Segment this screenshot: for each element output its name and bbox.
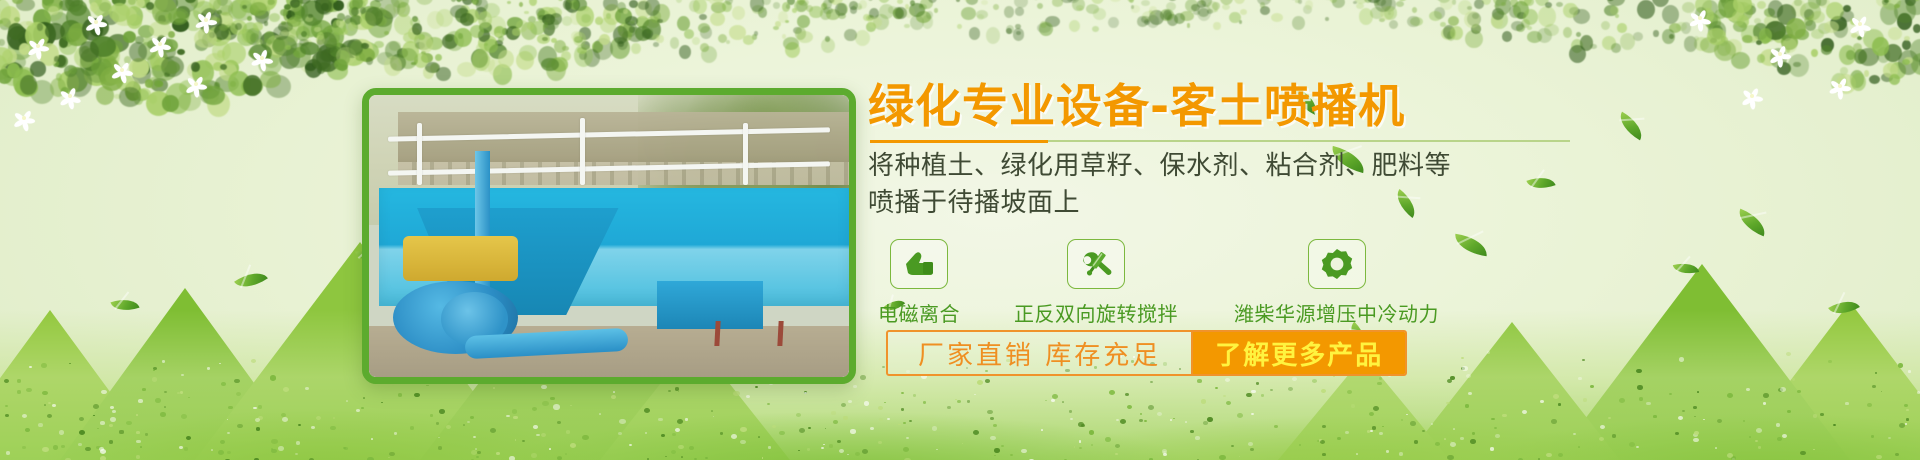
learn-more-button[interactable]: 了解更多产品 xyxy=(1191,332,1405,374)
banner-content: 绿化专业设备-客土喷播机 将种植土、绿化用草籽、保水剂、粘合剂、肥料等 喷播于待… xyxy=(868,82,1668,327)
promo-banner: 绿化专业设备-客土喷播机 将种植土、绿化用草籽、保水剂、粘合剂、肥料等 喷播于待… xyxy=(0,0,1920,460)
leaf-icon xyxy=(110,294,139,315)
feature-icon-box xyxy=(1067,239,1125,289)
gear-icon xyxy=(1321,248,1353,280)
feature-icon-box xyxy=(1308,239,1366,289)
product-photo xyxy=(362,88,856,384)
leaf-icon xyxy=(234,265,268,295)
leaf-icon xyxy=(1828,294,1860,321)
feature-list: 电磁离合 xyxy=(868,239,1668,327)
feature-icon-box xyxy=(890,239,948,289)
feature-item-bidirectional-mixing: 正反双向旋转搅拌 xyxy=(1014,239,1178,327)
thumbs-up-icon xyxy=(902,250,936,278)
leaf-icon xyxy=(1734,209,1770,237)
subtitle-line-2: 喷播于待播坡面上 xyxy=(868,185,1668,222)
title-divider xyxy=(870,140,1570,142)
feature-label: 潍柴华源增压中冷动力 xyxy=(1234,298,1439,327)
cta-bar: 厂家直销 库存充足 了解更多产品 xyxy=(886,330,1407,376)
feature-item-weichai-power: 潍柴华源增压中冷动力 xyxy=(1234,239,1439,327)
wrench-screwdriver-icon xyxy=(1079,249,1113,279)
leaf-icon xyxy=(1673,259,1699,277)
page-title: 绿化专业设备-客土喷播机 xyxy=(868,82,1668,132)
feature-item-electromagnetic-clutch: 电磁离合 xyxy=(878,239,960,327)
cta-tagline: 厂家直销 库存充足 xyxy=(888,332,1191,374)
feature-label: 电磁离合 xyxy=(878,298,960,327)
feature-label: 正反双向旋转搅拌 xyxy=(1014,298,1178,327)
subtitle-line-1: 将种植土、绿化用草籽、保水剂、粘合剂、肥料等 xyxy=(868,148,1668,185)
